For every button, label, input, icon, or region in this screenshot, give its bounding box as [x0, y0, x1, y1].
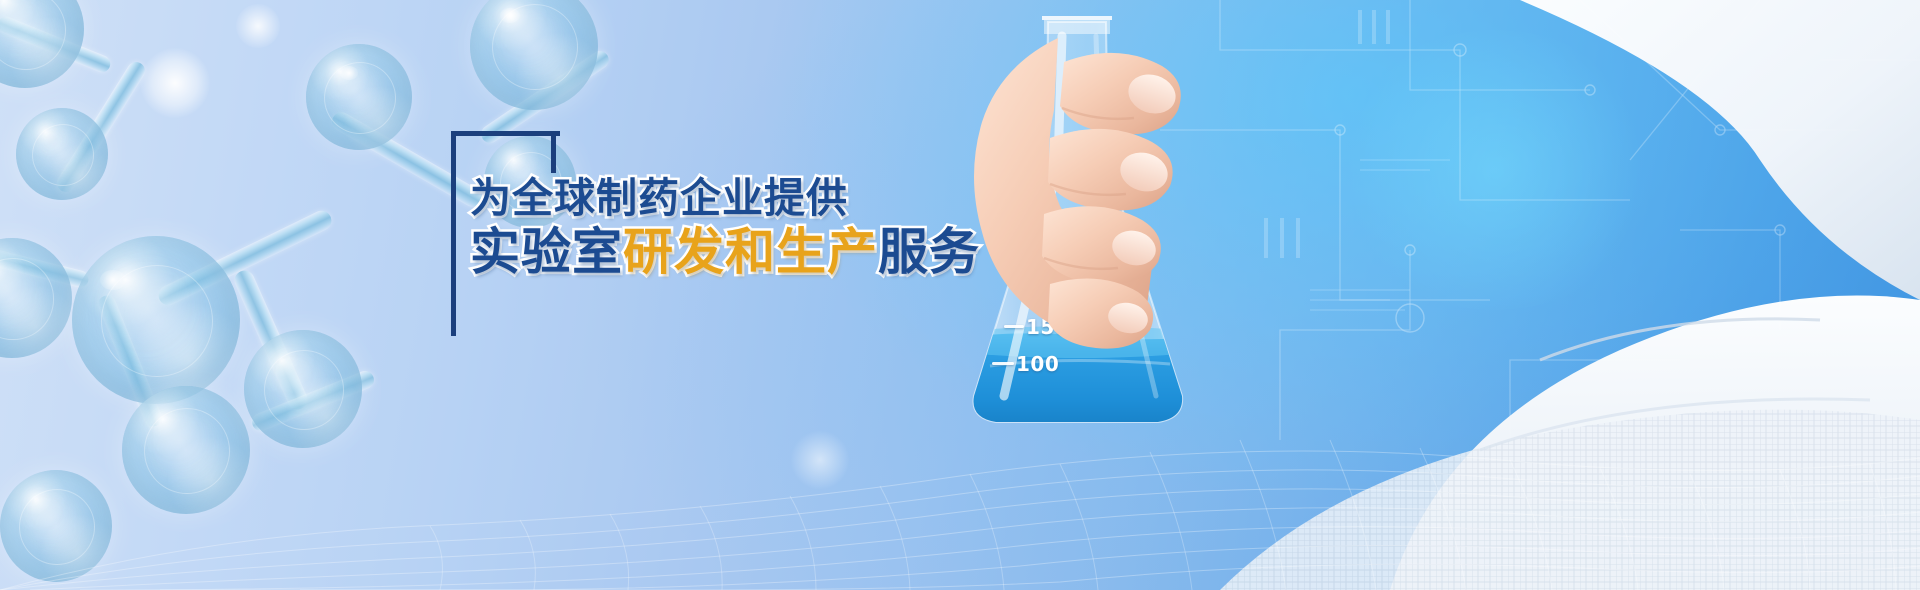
wave-mesh-icon	[0, 340, 1920, 590]
headline-line-2-rnd: 研发和生产	[623, 223, 878, 281]
headline-line-2-lab: 实验室	[470, 223, 623, 281]
headline-block: 为全球制药企业提供 实验室研发和生产服务	[470, 178, 1370, 277]
decorative-bracket-stub	[551, 131, 556, 173]
headline-line-1-text: 为全球制药企业提供	[470, 174, 848, 222]
headline-line-2-service: 服务	[878, 223, 980, 281]
hero-banner: 250 APPROX 200 150 100	[0, 0, 1920, 590]
headline-line-1: 为全球制药企业提供	[470, 178, 1370, 219]
headline-line-2: 实验室研发和生产服务	[470, 227, 1370, 277]
